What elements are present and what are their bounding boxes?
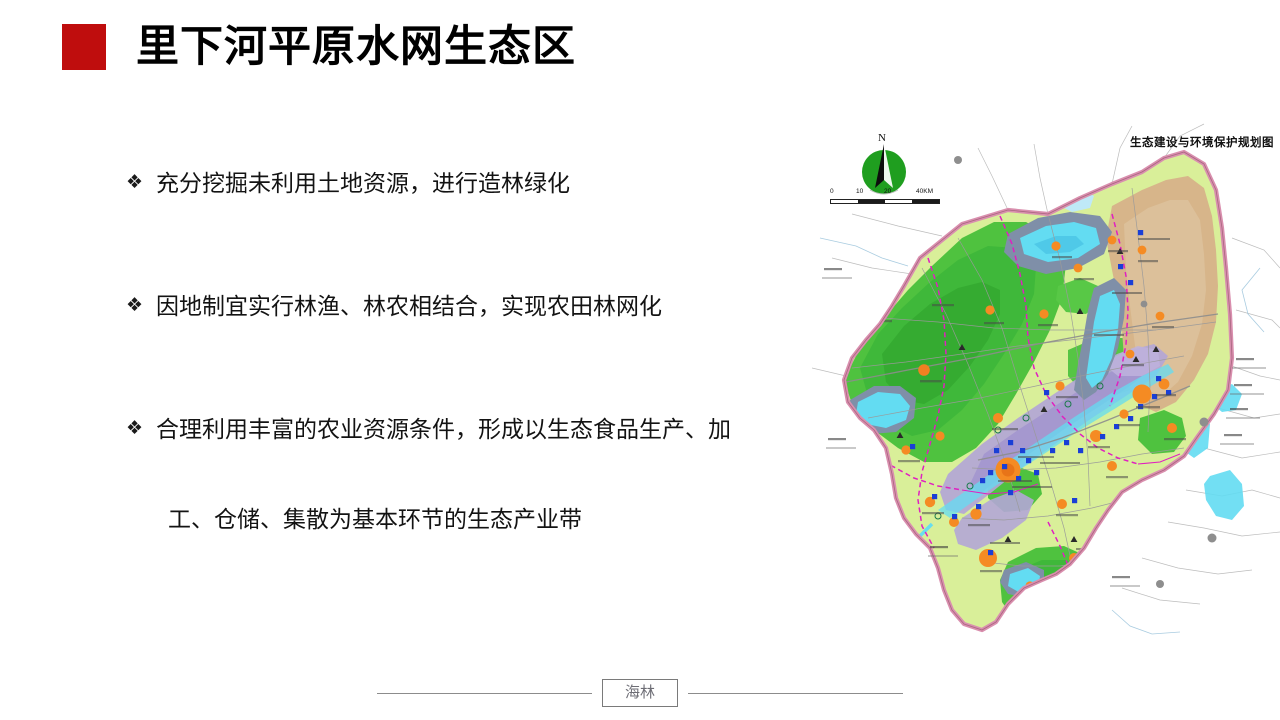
footer-rule-right — [688, 693, 903, 694]
list-item: ❖ 因地制宜实行林渔、林农相结合，实现农田林网化 — [126, 291, 826, 321]
bullet-text: 因地制宜实行林渔、林农相结合，实现农田林网化 — [156, 291, 662, 321]
scale-tick-40km: 40KM — [916, 188, 933, 195]
scalebar-ticks: 0 10 20 40KM — [830, 188, 940, 199]
slide-root: 里下河平原水网生态区 ❖ 充分挖掘未利用土地资源，进行造林绿化 ❖ 因地制宜实行… — [0, 0, 1280, 720]
scale-tick-0: 0 — [830, 188, 834, 195]
map-title: 生态建设与环境保护规划图 — [1130, 134, 1274, 150]
map-scalebar: 0 10 20 40KM — [830, 188, 940, 204]
list-item-continuation: 工、仓储、集散为基本环节的生态产业带 — [126, 504, 826, 534]
scalebar-bar — [830, 199, 940, 204]
diamond-bullet-icon: ❖ — [126, 291, 156, 321]
diamond-bullet-icon: ❖ — [126, 414, 156, 444]
scale-tick-10: 10 — [856, 188, 863, 195]
scale-tick-20: 20 — [884, 188, 891, 195]
bullet-list: ❖ 充分挖掘未利用土地资源，进行造林绿化 ❖ 因地制宜实行林渔、林农相结合，实现… — [126, 160, 826, 534]
slide-footer: 海林 — [0, 676, 1280, 710]
bullet-text: 工、仓储、集散为基本环节的生态产业带 — [156, 504, 582, 534]
bullet-text: 充分挖掘未利用土地资源，进行造林绿化 — [156, 168, 570, 198]
footer-badge: 海林 — [602, 679, 678, 707]
list-item: ❖ 合理利用丰富的农业资源条件，形成以生态食品生产、加 — [126, 414, 826, 444]
map-figure: 生态建设与环境保护规划图 N 0 10 20 40KM — [812, 118, 1280, 658]
slide-title-row: 里下河平原水网生态区 — [62, 24, 576, 70]
list-item: ❖ 充分挖掘未利用土地资源，进行造林绿化 — [126, 168, 826, 198]
footer-rule-left — [377, 693, 592, 694]
page-title: 里下河平原水网生态区 — [136, 26, 576, 69]
title-marker-square — [62, 24, 106, 70]
diamond-bullet-icon: ❖ — [126, 168, 156, 198]
north-label: N — [878, 132, 886, 144]
bullet-text: 合理利用丰富的农业资源条件，形成以生态食品生产、加 — [156, 414, 731, 444]
